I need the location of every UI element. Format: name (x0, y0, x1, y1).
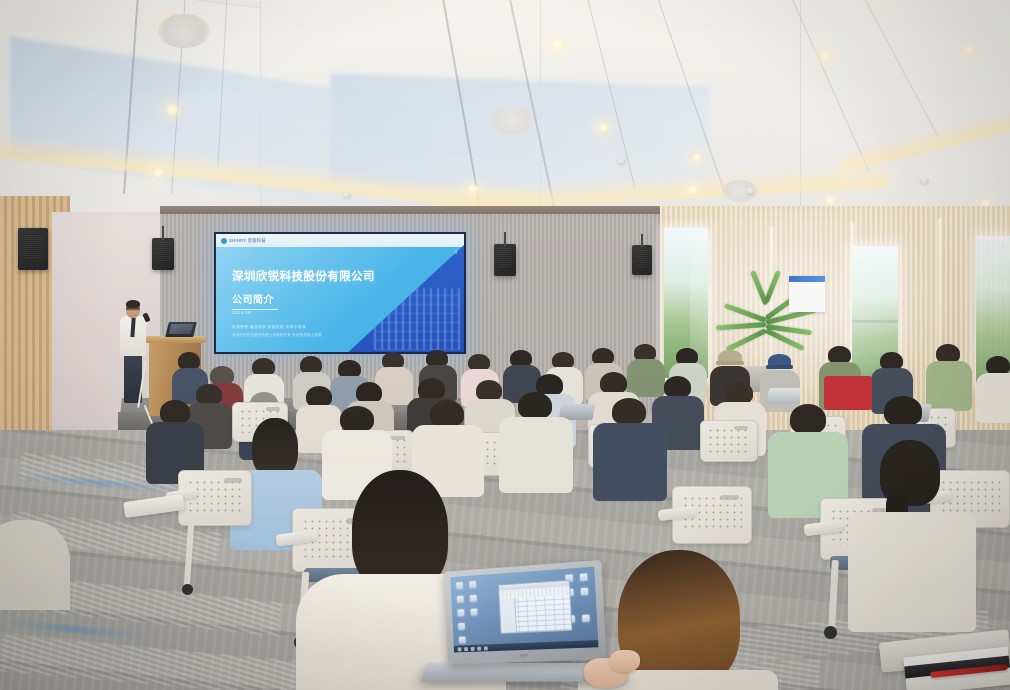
cap-brim-icon (716, 361, 744, 365)
slide-header-bar: SHINRY 欣锐科技 (216, 234, 464, 247)
taskbar-icon[interactable] (471, 646, 475, 650)
audience-laptop (767, 388, 801, 404)
slide-divider (232, 309, 278, 310)
conference-room-photo: SHINRY 欣锐科技 « 深圳欣锐科技股份有限公司 公司简介 2024.08 … (0, 0, 1010, 690)
smoke-detector-icon (920, 178, 929, 184)
chair-caster (182, 584, 193, 595)
ceiling-speaker-grille (158, 14, 210, 48)
speaker-mount (162, 226, 164, 240)
ceiling-downlight (152, 168, 165, 178)
taskbar-icon[interactable] (477, 646, 481, 650)
wall-speaker (152, 238, 174, 270)
slide-subtitle: 公司简介 (232, 291, 274, 306)
wall-sign-body (789, 282, 825, 288)
presentation-slide: SHINRY 欣锐科技 « 深圳欣锐科技股份有限公司 公司简介 2024.08 … (216, 234, 464, 352)
smoke-detector-icon (746, 188, 755, 194)
podium-top (146, 336, 206, 343)
spreadsheet-sidebar[interactable] (499, 598, 517, 633)
ceiling-downlight (597, 123, 610, 133)
slide-product-image (374, 288, 460, 350)
wall-speaker (494, 244, 516, 276)
podium-laptop-screen (169, 324, 193, 334)
hand-on-keyboard (610, 650, 640, 672)
ceiling-downlight (548, 38, 566, 52)
taskbar-icon[interactable] (484, 646, 488, 650)
slide-date: 2024.08 (232, 310, 251, 315)
ceiling-downlight (824, 196, 836, 205)
ceiling-downlight (686, 185, 699, 195)
smoke-detector-icon (617, 158, 626, 164)
laptop-screen[interactable] (450, 567, 598, 653)
smoke-detector-icon (343, 192, 351, 198)
red-bag (824, 376, 872, 410)
company-logo-text: SHINRY 欣锐科技 (229, 237, 266, 243)
spreadsheet-window[interactable] (498, 580, 573, 635)
ceiling-downlight (691, 153, 703, 162)
laptop-lid: HP (444, 560, 607, 664)
company-logo-icon (221, 238, 227, 244)
wall-speaker (18, 228, 48, 270)
taskbar-icon[interactable] (458, 647, 462, 651)
ceiling-downlight (961, 45, 976, 56)
taskbar[interactable] (454, 640, 599, 652)
projection-screen: SHINRY 欣锐科技 « 深圳欣锐科技股份有限公司 公司简介 2024.08 … (214, 232, 466, 354)
presenter-badge (129, 337, 135, 345)
ceiling-downlight (164, 104, 180, 116)
speaker-mount (641, 234, 643, 247)
foreground-laptop[interactable]: HP (424, 566, 622, 690)
ceiling-speaker-grille (492, 106, 534, 134)
slide-footnote-primary: 电源管理 高效转换 智能控制 功率半导体 (232, 325, 306, 330)
taskbar-icon[interactable] (464, 647, 468, 651)
presenter-hair (126, 300, 140, 308)
slide-title: 深圳欣锐科技股份有限公司 (232, 268, 375, 284)
slide-footnote-secondary: 深圳欣锐科技股份有限公司版权所有 未经授权禁止转载 (232, 332, 322, 337)
chair-caster (824, 626, 837, 639)
ceiling-downlight (818, 50, 833, 61)
wall-speaker (632, 245, 652, 275)
cap-brim-icon (766, 365, 793, 369)
laptop-brand-label: HP (520, 654, 528, 660)
wall-notice-sign (789, 276, 825, 312)
slide-corner-logo-icon: « (454, 247, 457, 256)
ceiling (0, 0, 1010, 236)
slide-diagonal-graphic (344, 245, 464, 352)
speaker-mount (504, 232, 506, 246)
window-mullion (852, 320, 898, 323)
ceiling-downlight (466, 184, 480, 195)
